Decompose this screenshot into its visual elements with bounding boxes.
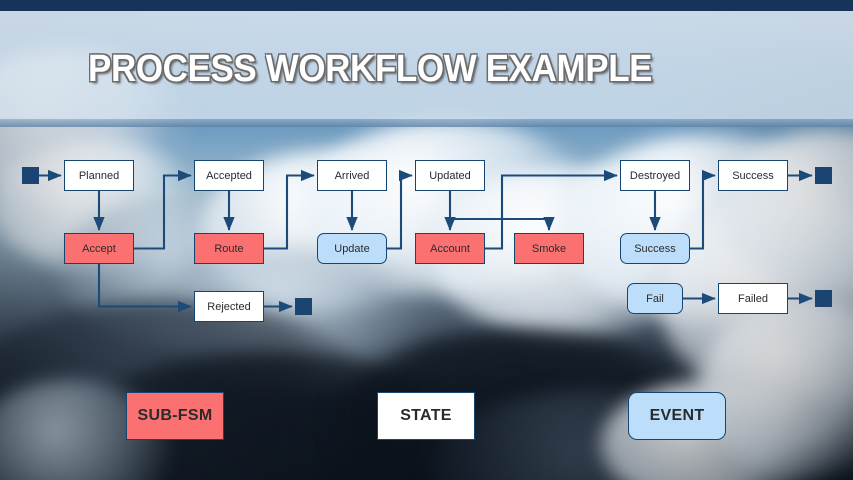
legend-label: STATE: [400, 407, 452, 425]
node-update[interactable]: Update: [317, 233, 387, 264]
terminal-end-failed: [815, 290, 832, 307]
node-label: Success: [732, 170, 774, 182]
node-label: Success: [634, 243, 676, 255]
terminal-end-success: [815, 167, 832, 184]
node-smoke[interactable]: Smoke: [514, 233, 584, 264]
node-success-state[interactable]: Success: [718, 160, 788, 191]
node-rejected[interactable]: Rejected: [194, 291, 264, 322]
node-label: Failed: [738, 293, 768, 305]
legend-item-event: EVENT: [628, 392, 726, 440]
node-label: Arrived: [335, 170, 370, 182]
node-success-event[interactable]: Success: [620, 233, 690, 264]
node-label: Planned: [79, 170, 119, 182]
legend-item-sub-fsm: SUB-FSM: [126, 392, 224, 440]
slide-canvas: PROCESS WORKFLOW EXAMPLE: [0, 0, 853, 480]
legend-label: EVENT: [650, 407, 705, 425]
node-accept[interactable]: Accept: [64, 233, 134, 264]
node-arrived[interactable]: Arrived: [317, 160, 387, 191]
node-route[interactable]: Route: [194, 233, 264, 264]
node-label: Update: [334, 243, 369, 255]
node-destroyed[interactable]: Destroyed: [620, 160, 690, 191]
node-label: Route: [214, 243, 243, 255]
legend-item-state: STATE: [377, 392, 475, 440]
node-account[interactable]: Account: [415, 233, 485, 264]
node-planned[interactable]: Planned: [64, 160, 134, 191]
node-label: Accepted: [206, 170, 252, 182]
node-label: Smoke: [532, 243, 566, 255]
node-label: Accept: [82, 243, 116, 255]
terminal-end-rejected: [295, 298, 312, 315]
node-failed-state[interactable]: Failed: [718, 283, 788, 314]
node-label: Destroyed: [630, 170, 680, 182]
legend-label: SUB-FSM: [138, 407, 213, 425]
node-label: Account: [430, 243, 470, 255]
node-updated[interactable]: Updated: [415, 160, 485, 191]
node-accepted[interactable]: Accepted: [194, 160, 264, 191]
node-label: Updated: [429, 170, 471, 182]
node-fail-event[interactable]: Fail: [627, 283, 683, 314]
terminal-start: [22, 167, 39, 184]
node-label: Rejected: [207, 301, 250, 313]
node-label: Fail: [646, 293, 664, 305]
